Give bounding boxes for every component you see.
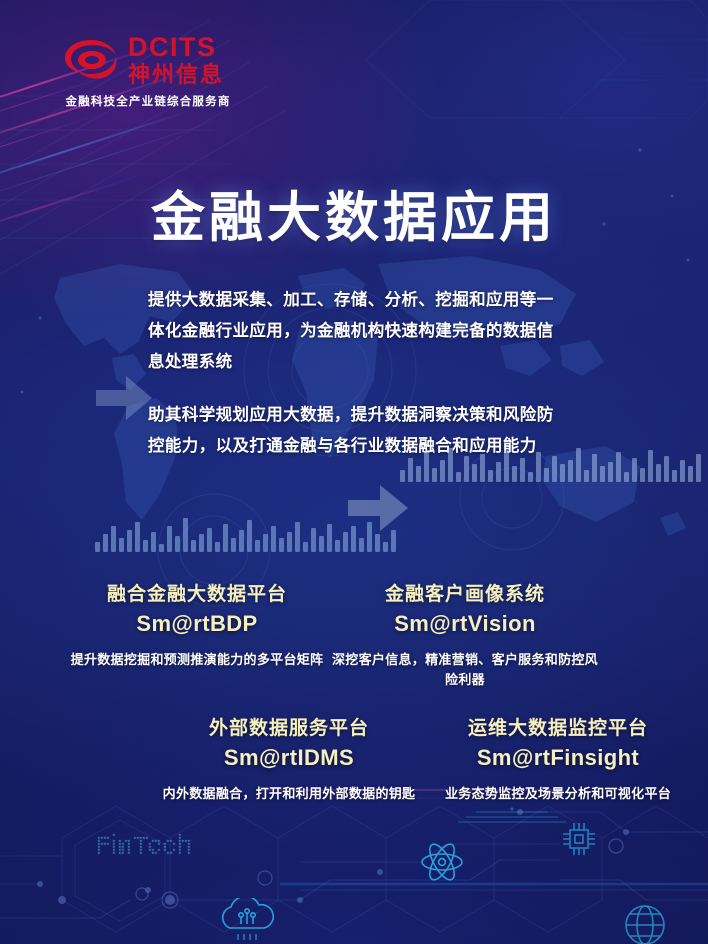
bar <box>199 534 204 552</box>
bar <box>648 450 653 482</box>
fintech-watermark <box>92 828 252 862</box>
bar <box>287 532 292 552</box>
product-name-cn: 外部数据服务平台 <box>160 716 418 742</box>
bar <box>375 534 380 552</box>
bar <box>231 538 236 552</box>
bar <box>351 526 356 552</box>
bar <box>592 454 597 482</box>
bar <box>600 466 605 482</box>
bar <box>688 466 693 482</box>
bar <box>400 470 405 482</box>
cloud-computing-icon <box>210 898 284 944</box>
network-dots-icon <box>452 806 572 828</box>
bar <box>343 532 348 552</box>
bar <box>383 542 388 552</box>
bar <box>103 534 108 552</box>
bar <box>391 530 396 552</box>
bar <box>608 462 613 482</box>
bar <box>127 530 132 552</box>
product-card-smartfinsight[interactable]: 运维大数据监控平台 Sm@rtFinsight 业务态势监控及场景分析和可视化平… <box>424 716 692 804</box>
bar <box>319 536 324 552</box>
bar <box>183 518 188 552</box>
bar <box>191 540 196 552</box>
brand-name-cn: 神州信息 <box>128 64 224 86</box>
product-description: 提升数据挖掘和预测推演能力的多平台矩阵 <box>62 650 332 670</box>
product-card-smartvision[interactable]: 金融客户画像系统 Sm@rtVision 深挖客户信息，精准营销、客户服务和防控… <box>330 582 600 690</box>
page-title: 金融大数据应用 <box>0 173 708 252</box>
bar <box>424 452 429 482</box>
bar <box>135 522 140 552</box>
bar <box>696 454 701 482</box>
fintech-dot-canvas <box>92 828 252 862</box>
bar <box>303 542 308 552</box>
bar <box>432 468 437 482</box>
product-name-cn: 金融客户画像系统 <box>330 582 600 608</box>
bar <box>672 470 677 482</box>
brand-name-en: DCITS <box>128 34 224 61</box>
product-name-en: Sm@rtFinsight <box>424 744 692 772</box>
bar <box>552 456 557 482</box>
bar <box>263 534 268 552</box>
bar-chart-decoration-left <box>95 512 396 552</box>
bar <box>359 538 364 552</box>
bar <box>536 452 541 482</box>
bar <box>159 544 164 552</box>
bar <box>279 538 284 552</box>
bar <box>255 540 260 552</box>
bar <box>464 456 469 482</box>
bar <box>656 464 661 482</box>
bar <box>472 464 477 482</box>
brand-tagline: 金融科技全产业链综合服务商 <box>62 93 234 109</box>
bar <box>624 472 629 482</box>
bar <box>480 454 485 482</box>
product-card-smartbdp[interactable]: 融合金融大数据平台 Sm@rtBDP 提升数据挖掘和预测推演能力的多平台矩阵 <box>62 582 332 670</box>
bar <box>496 462 501 482</box>
bar <box>207 528 212 552</box>
bar <box>488 470 493 482</box>
product-description: 深挖客户信息，精准营销、客户服务和防控风险利器 <box>330 650 600 690</box>
bar <box>239 530 244 552</box>
bar <box>143 540 148 552</box>
bar <box>512 466 517 482</box>
bar <box>680 460 685 482</box>
bar <box>528 472 533 482</box>
atom-icon <box>418 838 466 886</box>
brand-header: DCITS 神州信息 金融科技全产业链综合服务商 <box>62 34 322 109</box>
product-description: 内外数据融合，打开和利用外部数据的钥匙 <box>160 784 418 804</box>
bar <box>456 472 461 482</box>
bar <box>327 524 332 552</box>
bar <box>632 458 637 482</box>
bar <box>576 448 581 482</box>
bar <box>223 524 228 552</box>
dcits-swirl-logo-icon <box>62 37 120 83</box>
bar <box>584 470 589 482</box>
product-name-en: Sm@rtVision <box>330 610 600 638</box>
globe-icon <box>622 902 668 944</box>
arrow-right-icon <box>96 372 154 424</box>
bar <box>560 464 565 482</box>
bar <box>568 460 573 482</box>
intro-paragraph-1: 提供大数据采集、加工、存储、分析、挖掘和应用等一体化金融行业应用，为金融机构快速… <box>148 285 556 378</box>
bar <box>119 538 124 552</box>
bar <box>335 540 340 552</box>
bar <box>616 452 621 482</box>
bar <box>640 468 645 482</box>
bar <box>151 532 156 552</box>
product-card-smartidms[interactable]: 外部数据服务平台 Sm@rtIDMS 内外数据融合，打开和利用外部数据的钥匙 <box>160 716 418 804</box>
intro-text-block: 提供大数据采集、加工、存储、分析、挖掘和应用等一体化金融行业应用，为金融机构快速… <box>148 285 556 462</box>
bar <box>311 528 316 552</box>
bar <box>367 522 372 552</box>
bar <box>247 520 252 552</box>
bar <box>295 522 300 552</box>
product-name-cn: 运维大数据监控平台 <box>424 716 692 742</box>
bar <box>416 466 421 482</box>
product-name-en: Sm@rtBDP <box>62 610 332 638</box>
bar <box>504 450 509 482</box>
bar <box>544 468 549 482</box>
bar-chart-decoration-right <box>400 440 701 482</box>
bar <box>408 458 413 482</box>
bar <box>95 542 100 552</box>
bar <box>440 460 445 482</box>
bar <box>448 448 453 482</box>
bar <box>215 542 220 552</box>
bar <box>167 526 172 552</box>
product-description: 业务态势监控及场景分析和可视化平台 <box>424 784 692 804</box>
product-name-cn: 融合金融大数据平台 <box>62 582 332 608</box>
bar <box>175 536 180 552</box>
product-name-en: Sm@rtIDMS <box>160 744 418 772</box>
bar <box>520 458 525 482</box>
bar <box>664 456 669 482</box>
poster-root: DCITS 神州信息 金融科技全产业链综合服务商 金融大数据应用 提供大数据采集… <box>0 0 708 944</box>
bar <box>111 526 116 552</box>
bar <box>271 526 276 552</box>
